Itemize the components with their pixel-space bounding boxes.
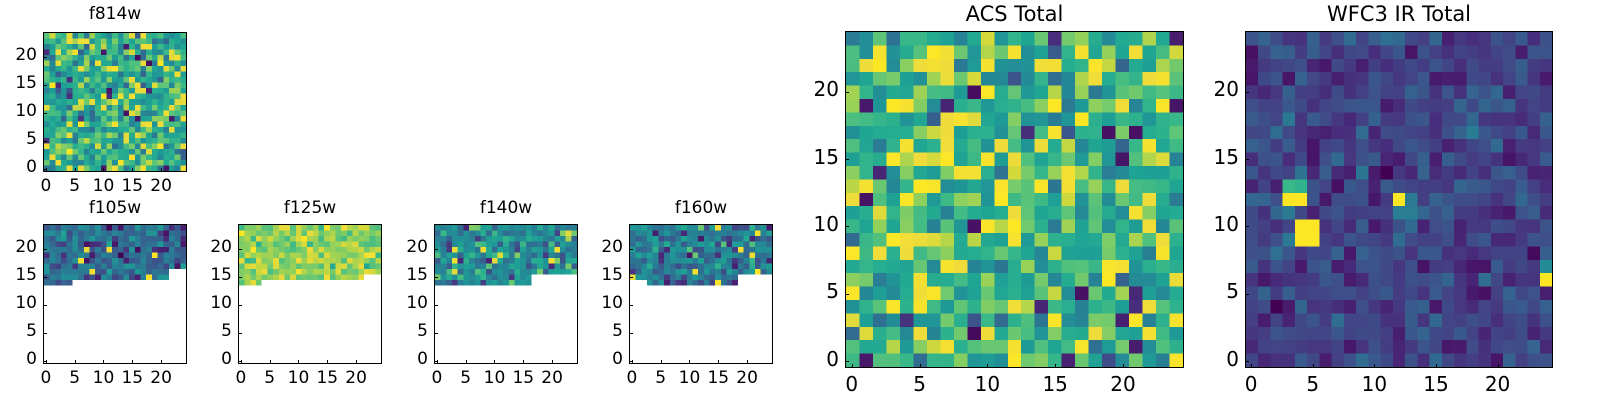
y-tick-mark-wfc3-ir-total-4 [1245, 92, 1249, 93]
x-tick-label-wfc3-ir-total-3: 15 [1406, 372, 1466, 396]
x-tick-label-wfc3-ir-total-1: 5 [1283, 372, 1343, 396]
figure-canvas: f814w0510152005101520f105w05101520051015… [0, 0, 1600, 400]
y-tick-label-wfc3-ir-total-4: 20 [1179, 77, 1239, 101]
x-tick-mark-wfc3-ir-total-0 [1251, 364, 1252, 368]
x-tick-mark-wfc3-ir-total-4 [1498, 364, 1499, 368]
y-tick-label-wfc3-ir-total-2: 10 [1179, 212, 1239, 236]
x-tick-mark-wfc3-ir-total-2 [1374, 364, 1375, 368]
y-tick-label-wfc3-ir-total-1: 5 [1179, 279, 1239, 303]
y-tick-mark-wfc3-ir-total-0 [1245, 361, 1249, 362]
panel-wfc3-ir-total: WFC3 IR Total0510152005101520 [0, 0, 1600, 400]
axes-wfc3-ir-total [1245, 31, 1553, 368]
y-tick-label-wfc3-ir-total-0: 0 [1179, 347, 1239, 371]
x-tick-label-wfc3-ir-total-0: 0 [1221, 372, 1281, 396]
y-tick-label-wfc3-ir-total-3: 15 [1179, 145, 1239, 169]
x-tick-label-wfc3-ir-total-2: 10 [1344, 372, 1404, 396]
panel-title-wfc3-ir-total: WFC3 IR Total [1245, 2, 1553, 26]
y-tick-mark-wfc3-ir-total-2 [1245, 226, 1249, 227]
y-tick-mark-wfc3-ir-total-1 [1245, 294, 1249, 295]
x-tick-label-wfc3-ir-total-4: 20 [1468, 372, 1528, 396]
heatmap-wfc3-ir-total [1246, 32, 1552, 367]
x-tick-mark-wfc3-ir-total-1 [1313, 364, 1314, 368]
y-tick-mark-wfc3-ir-total-3 [1245, 159, 1249, 160]
x-tick-mark-wfc3-ir-total-3 [1436, 364, 1437, 368]
